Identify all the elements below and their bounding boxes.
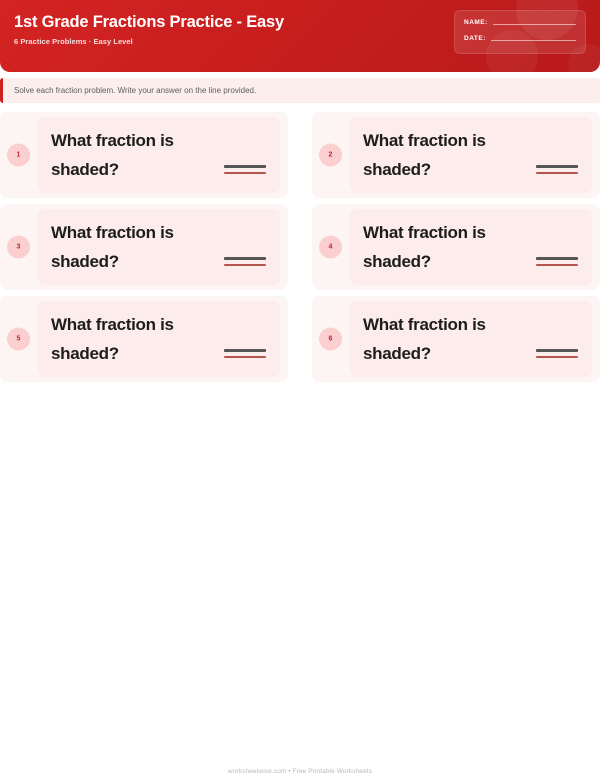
footer-attribution: worksheetwise.com • Free Printable Works… [228,768,372,775]
problem-number-badge: 3 [7,236,30,259]
date-field-label: DATE: [464,35,486,42]
date-field-row[interactable]: DATE: [464,35,576,42]
problem-number-badge: 5 [7,328,30,351]
denominator-answer-line[interactable] [224,264,266,267]
date-field-rule[interactable] [491,40,576,41]
problem-question: What fraction is shaded? [51,218,201,276]
instruction-text: Solve each fraction problem. Write your … [14,86,256,95]
problem-card[interactable]: What fraction is shaded? [350,301,592,377]
problem-card[interactable]: What fraction is shaded? [38,301,280,377]
problem-grid: 1 What fraction is shaded? 2 What fracti… [0,112,600,388]
problem-item[interactable]: 1 What fraction is shaded? [0,112,288,198]
page-footer: worksheetwise.com • Free Printable Works… [0,760,600,776]
problem-number-badge: 6 [319,328,342,351]
problem-cell: 4 What fraction is shaded? [312,204,600,296]
problem-cell: 2 What fraction is shaded? [312,112,600,204]
numerator-answer-line[interactable] [536,165,578,168]
header-text-group: 1st Grade Fractions Practice - Easy 6 Pr… [14,12,284,46]
problem-card[interactable]: What fraction is shaded? [38,209,280,285]
student-info-box: NAME: DATE: [454,10,586,54]
denominator-answer-line[interactable] [224,172,266,175]
denominator-answer-line[interactable] [536,264,578,267]
answer-fraction-lines[interactable] [536,257,578,266]
instruction-accent-bar [0,78,3,103]
answer-fraction-lines[interactable] [536,165,578,174]
problem-item[interactable]: 2 What fraction is shaded? [312,112,600,198]
name-field-row[interactable]: NAME: [464,19,576,26]
page-subtitle: 6 Practice Problems · Easy Level [14,37,284,46]
name-field-label: NAME: [464,19,488,26]
problem-question: What fraction is shaded? [363,310,513,368]
numerator-answer-line[interactable] [536,349,578,352]
answer-fraction-lines[interactable] [224,165,266,174]
numerator-answer-line[interactable] [224,349,266,352]
problem-cell: 6 What fraction is shaded? [312,296,600,388]
answer-fraction-lines[interactable] [536,349,578,358]
problem-item[interactable]: 4 What fraction is shaded? [312,204,600,290]
problem-item[interactable]: 3 What fraction is shaded? [0,204,288,290]
numerator-answer-line[interactable] [224,257,266,260]
problem-cell: 1 What fraction is shaded? [0,112,288,204]
problem-question: What fraction is shaded? [363,126,513,184]
numerator-answer-line[interactable] [224,165,266,168]
instruction-banner: Solve each fraction problem. Write your … [0,78,600,103]
problem-number-badge: 4 [319,236,342,259]
denominator-answer-line[interactable] [536,356,578,359]
problem-cell: 5 What fraction is shaded? [0,296,288,388]
problem-card[interactable]: What fraction is shaded? [38,117,280,193]
problem-card[interactable]: What fraction is shaded? [350,209,592,285]
name-field-rule[interactable] [493,24,576,25]
problem-cell: 3 What fraction is shaded? [0,204,288,296]
denominator-answer-line[interactable] [224,356,266,359]
problem-item[interactable]: 6 What fraction is shaded? [312,296,600,382]
problem-number-badge: 2 [319,144,342,167]
problem-number-badge: 1 [7,144,30,167]
problem-question: What fraction is shaded? [51,126,201,184]
problem-question: What fraction is shaded? [51,310,201,368]
denominator-answer-line[interactable] [536,172,578,175]
answer-fraction-lines[interactable] [224,257,266,266]
worksheet-page: 1st Grade Fractions Practice - Easy 6 Pr… [0,0,600,776]
problem-card[interactable]: What fraction is shaded? [350,117,592,193]
numerator-answer-line[interactable] [536,257,578,260]
problem-item[interactable]: 5 What fraction is shaded? [0,296,288,382]
problem-question: What fraction is shaded? [363,218,513,276]
answer-fraction-lines[interactable] [224,349,266,358]
worksheet-header: 1st Grade Fractions Practice - Easy 6 Pr… [0,0,600,72]
page-title: 1st Grade Fractions Practice - Easy [14,12,284,32]
